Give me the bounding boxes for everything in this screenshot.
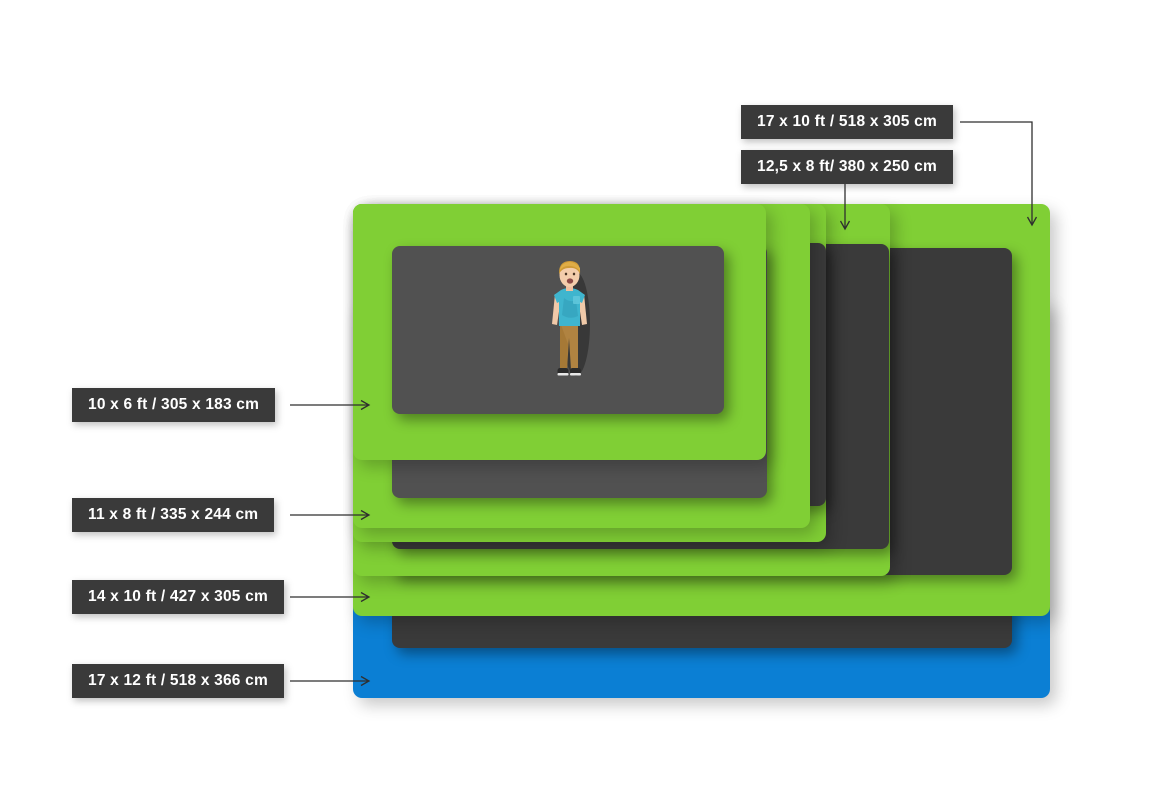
connector-11x8 [290,506,380,526]
screen-size-comparison-diagram: 17 x 10 ft / 518 x 305 cm 12,5 x 8 ft/ 3… [0,0,1170,800]
connector-17x10-path [960,122,1032,224]
connector-12-5x8 [835,184,857,236]
child-scale-figure [540,258,602,386]
label-size-17x12[interactable]: 17 x 12 ft / 518 x 366 cm [72,664,284,698]
label-size-11x8-text: 11 x 8 ft / 335 x 244 cm [88,506,258,523]
label-size-17x10-text: 17 x 10 ft / 518 x 305 cm [757,113,937,130]
label-size-12-5x8-text: 12,5 x 8 ft/ 380 x 250 cm [757,158,937,175]
label-size-10x6[interactable]: 10 x 6 ft / 305 x 183 cm [72,388,275,422]
connector-17x12 [290,672,380,692]
connector-14x10 [290,588,380,608]
label-size-14x10[interactable]: 14 x 10 ft / 427 x 305 cm [72,580,284,614]
connector-17x10 [960,112,1050,237]
label-size-14x10-text: 14 x 10 ft / 427 x 305 cm [88,588,268,605]
child-figure-icon [540,258,602,386]
label-size-17x12-text: 17 x 12 ft / 518 x 366 cm [88,672,268,689]
label-size-17x10[interactable]: 17 x 10 ft / 518 x 305 cm [741,105,953,139]
label-size-10x6-text: 10 x 6 ft / 305 x 183 cm [88,396,259,413]
label-size-11x8[interactable]: 11 x 8 ft / 335 x 244 cm [72,498,274,532]
label-size-12-5x8[interactable]: 12,5 x 8 ft/ 380 x 250 cm [741,150,953,184]
connector-10x6 [290,396,380,416]
